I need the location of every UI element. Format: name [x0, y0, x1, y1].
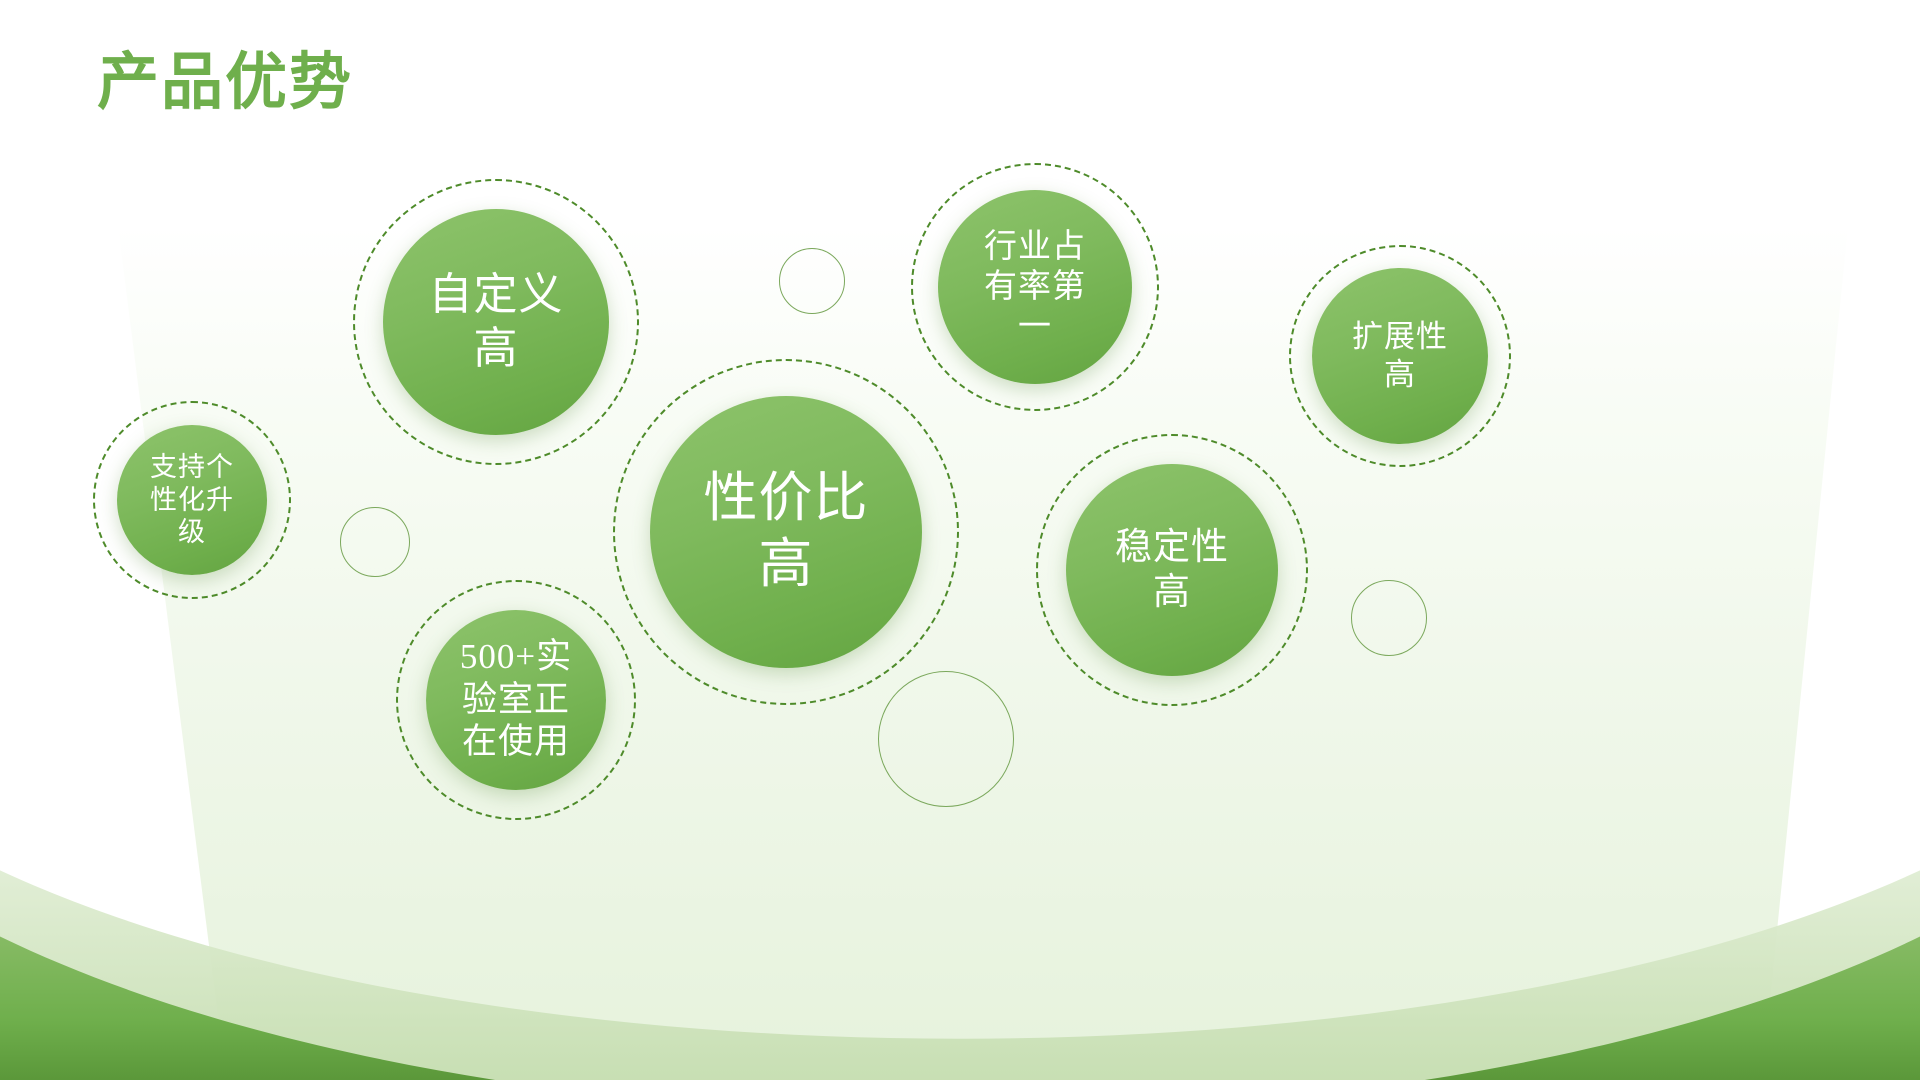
- deco-circle-right-low: [1351, 580, 1427, 656]
- background-decoration: [0, 0, 1920, 1080]
- bubble-disc[interactable]: 自定义 高: [383, 209, 609, 435]
- deco-circle-bottom-center: [878, 671, 1014, 807]
- slide-canvas: 产品优势 支持个 性化升 级 自定义 高 性价比 高 500+实 验室正 在使用: [0, 0, 1920, 1080]
- deco-circle-left-mid: [340, 507, 410, 577]
- bubble-disc[interactable]: 500+实 验室正 在使用: [426, 610, 606, 790]
- bubble-label: 支持个 性化升 级: [144, 451, 240, 550]
- bubble-disc[interactable]: 支持个 性化升 级: [117, 425, 267, 575]
- bubble-disc[interactable]: 性价比 高: [650, 396, 922, 668]
- deco-circle-top-center: [779, 248, 845, 314]
- bubble-disc[interactable]: 扩展性 高: [1312, 268, 1488, 444]
- page-title: 产品优势: [97, 50, 353, 115]
- bubble-label: 性价比 高: [698, 466, 875, 598]
- bubble-label: 行业占 有率第 一: [978, 227, 1092, 348]
- bubble-disc[interactable]: 稳定性 高: [1066, 464, 1278, 676]
- bubble-label: 扩展性 高: [1346, 318, 1454, 394]
- bubble-label: 稳定性 高: [1109, 525, 1235, 615]
- bubble-label: 自定义 高: [423, 268, 570, 375]
- bubble-label: 500+实 验室正 在使用: [454, 636, 578, 764]
- bubble-disc[interactable]: 行业占 有率第 一: [938, 190, 1132, 384]
